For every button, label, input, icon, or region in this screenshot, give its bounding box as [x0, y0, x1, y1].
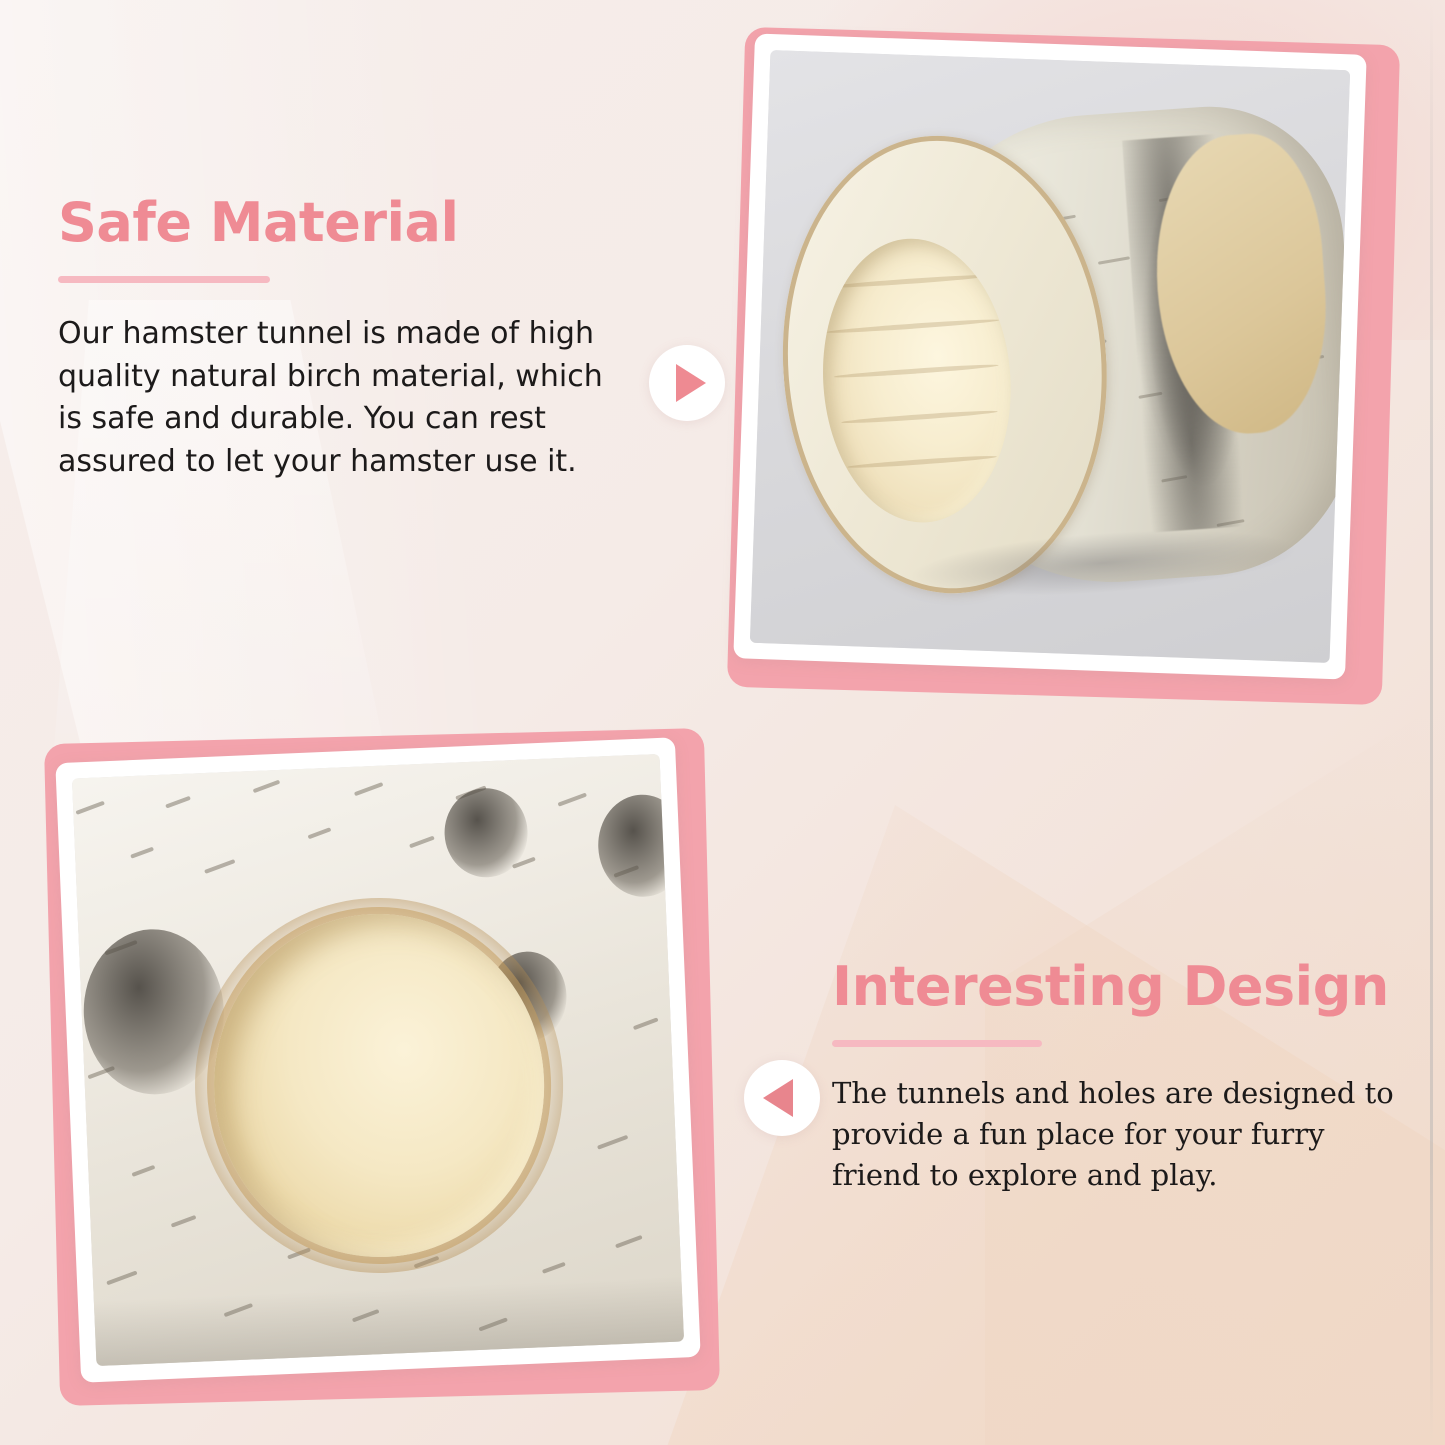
heading-divider-safe-material — [58, 276, 270, 283]
feature-interesting-design-text: Interesting Design The tunnels and holes… — [832, 960, 1402, 1197]
triangle-right-icon[interactable] — [649, 345, 725, 421]
feature-safe-material-text: Safe Material Our hamster tunnel is made… — [58, 196, 618, 483]
photo-frame — [55, 737, 700, 1382]
bore-rib-group — [814, 233, 1021, 529]
product-photo-tunnel-end — [750, 50, 1350, 663]
birch-tube — [766, 89, 1350, 625]
page-title-interesting-design: Interesting Design — [832, 960, 1402, 1014]
photo-card-interesting-design[interactable] — [52, 736, 712, 1398]
background-seam-line — [1430, 0, 1433, 1445]
feature-body-safe-material: Our hamster tunnel is made of high quali… — [58, 313, 616, 483]
birch-bark-surface — [72, 754, 684, 1366]
photo-frame — [733, 34, 1366, 680]
tunnel-bore — [814, 233, 1021, 529]
infographic-canvas: Safe Material Our hamster tunnel is made… — [0, 0, 1445, 1445]
feature-body-interesting-design: The tunnels and holes are designed to pr… — [832, 1073, 1394, 1197]
heading-divider-interesting-design — [832, 1040, 1042, 1047]
triangle-left-glyph — [763, 1079, 793, 1117]
triangle-right-glyph — [676, 364, 706, 402]
triangle-left-icon[interactable] — [744, 1060, 820, 1136]
product-photo-bark-hole — [72, 754, 684, 1366]
photo-card-safe-material[interactable] — [736, 36, 1391, 696]
page-title-safe-material: Safe Material — [58, 196, 618, 250]
